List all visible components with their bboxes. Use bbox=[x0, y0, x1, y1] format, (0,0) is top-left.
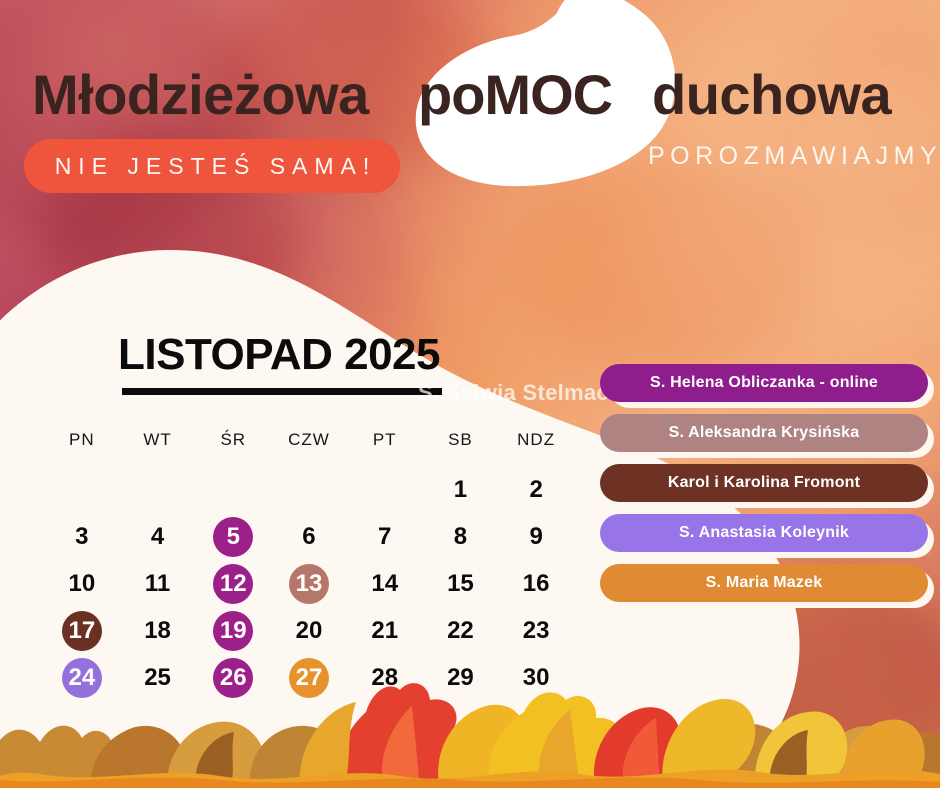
calendar-empty-cell bbox=[120, 466, 196, 513]
ghost-watermark-name: S. Sylwia Stelmach bbox=[418, 380, 623, 406]
calendar-day-2[interactable]: 2 bbox=[516, 470, 556, 510]
calendar-day-23[interactable]: 23 bbox=[516, 611, 556, 651]
calendar-day-cell[interactable]: 12 bbox=[195, 560, 271, 607]
calendar-empty-cell bbox=[44, 466, 120, 513]
legend-item[interactable]: S. Aleksandra Krysińska bbox=[600, 414, 928, 452]
calendar-weekday-pn: PN bbox=[44, 430, 120, 466]
calendar-day-cell[interactable]: 11 bbox=[120, 560, 196, 607]
calendar-weekday-pt: PT bbox=[347, 430, 423, 466]
calendar-day-12[interactable]: 12 bbox=[213, 564, 253, 604]
tagline-pill: NIE JESTEŚ SAMA! bbox=[24, 139, 400, 193]
calendar-day-9[interactable]: 9 bbox=[516, 517, 556, 557]
calendar-day-cell[interactable]: 15 bbox=[423, 560, 499, 607]
calendar-day-cell[interactable]: 5 bbox=[195, 513, 271, 560]
legend-item[interactable]: S. Helena Obliczanka - online bbox=[600, 364, 928, 402]
calendar-day-22[interactable]: 22 bbox=[440, 611, 480, 651]
calendar-day-cell[interactable]: 23 bbox=[498, 607, 574, 654]
legend-item[interactable]: Karol i Karolina Fromont bbox=[600, 464, 928, 502]
calendar-day-5[interactable]: 5 bbox=[213, 517, 253, 557]
calendar-grid: PNWTŚRCZWPTSBNDZ 12345678910111213141516… bbox=[44, 430, 574, 701]
calendar-empty-cell bbox=[195, 466, 271, 513]
calendar-weekday-wt: WT bbox=[120, 430, 196, 466]
legend-list: S. Helena Obliczanka - onlineS. Aleksand… bbox=[600, 364, 928, 614]
legend-badge[interactable]: S. Helena Obliczanka - online bbox=[600, 364, 928, 402]
calendar-day-cell[interactable]: 20 bbox=[271, 607, 347, 654]
legend-item[interactable]: S. Maria Mazek bbox=[600, 564, 928, 602]
calendar-day-1[interactable]: 1 bbox=[440, 470, 480, 510]
calendar-empty-cell bbox=[271, 466, 347, 513]
calendar-day-15[interactable]: 15 bbox=[440, 564, 480, 604]
calendar-day-7[interactable]: 7 bbox=[365, 517, 405, 557]
calendar-day-10[interactable]: 10 bbox=[62, 564, 102, 604]
calendar-week-row: 10111213141516 bbox=[44, 560, 574, 607]
calendar-day-cell[interactable]: 6 bbox=[271, 513, 347, 560]
calendar-day-cell[interactable]: 16 bbox=[498, 560, 574, 607]
calendar-day-16[interactable]: 16 bbox=[516, 564, 556, 604]
calendar-day-cell[interactable]: 17 bbox=[44, 607, 120, 654]
calendar-week-row: 17181920212223 bbox=[44, 607, 574, 654]
headline-part3: duchowa bbox=[652, 62, 891, 127]
calendar-day-14[interactable]: 14 bbox=[365, 564, 405, 604]
calendar-day-cell[interactable]: 19 bbox=[195, 607, 271, 654]
autumn-leaves-border bbox=[0, 666, 940, 788]
calendar-day-cell[interactable]: 1 bbox=[423, 466, 499, 513]
legend-item[interactable]: S. Anastasia Koleynik bbox=[600, 514, 928, 552]
calendar-day-19[interactable]: 19 bbox=[213, 611, 253, 651]
calendar-empty-cell bbox=[347, 466, 423, 513]
calendar-day-cell[interactable]: 18 bbox=[120, 607, 196, 654]
calendar-week-row: 3456789 bbox=[44, 513, 574, 560]
calendar-day-13[interactable]: 13 bbox=[289, 564, 329, 604]
legend-badge[interactable]: S. Maria Mazek bbox=[600, 564, 928, 602]
calendar-day-21[interactable]: 21 bbox=[365, 611, 405, 651]
calendar-day-20[interactable]: 20 bbox=[289, 611, 329, 651]
calendar-day-17[interactable]: 17 bbox=[62, 611, 102, 651]
legend-badge[interactable]: Karol i Karolina Fromont bbox=[600, 464, 928, 502]
calendar-day-18[interactable]: 18 bbox=[138, 611, 178, 651]
calendar-day-cell[interactable]: 21 bbox=[347, 607, 423, 654]
calendar-day-cell[interactable]: 9 bbox=[498, 513, 574, 560]
headline-part2-pomoc: poMOC bbox=[418, 62, 612, 127]
calendar-day-cell[interactable]: 3 bbox=[44, 513, 120, 560]
calendar-weekday-ndz: NDZ bbox=[498, 430, 574, 466]
calendar-day-cell[interactable]: 7 bbox=[347, 513, 423, 560]
calendar-day-cell[interactable]: 14 bbox=[347, 560, 423, 607]
calendar-day-6[interactable]: 6 bbox=[289, 517, 329, 557]
subtitle-porozmawiajmy: POROZMAWIAJMY bbox=[648, 142, 920, 171]
calendar-day-11[interactable]: 11 bbox=[138, 564, 178, 604]
calendar-weekday-sb: SB bbox=[423, 430, 499, 466]
calendar-day-cell[interactable]: 4 bbox=[120, 513, 196, 560]
calendar-day-4[interactable]: 4 bbox=[138, 517, 178, 557]
calendar-day-cell[interactable]: 13 bbox=[271, 560, 347, 607]
calendar-day-8[interactable]: 8 bbox=[440, 517, 480, 557]
calendar-day-3[interactable]: 3 bbox=[62, 517, 102, 557]
calendar-title-underline bbox=[122, 388, 442, 395]
legend-badge[interactable]: S. Aleksandra Krysińska bbox=[600, 414, 928, 452]
calendar-title: LISTOPAD 2025 bbox=[118, 330, 440, 380]
poster-root: Młodzieżowa poMOC duchowa NIE JESTEŚ SAM… bbox=[0, 0, 940, 788]
calendar-day-cell[interactable]: 8 bbox=[423, 513, 499, 560]
calendar-week-row: 12 bbox=[44, 466, 574, 513]
tagline-text: NIE JESTEŚ SAMA! bbox=[48, 153, 377, 180]
calendar-weekday-header-row: PNWTŚRCZWPTSBNDZ bbox=[44, 430, 574, 466]
calendar-weekday-czw: CZW bbox=[271, 430, 347, 466]
headline-part1: Młodzieżowa bbox=[32, 62, 369, 127]
calendar-weekday-śr: ŚR bbox=[195, 430, 271, 466]
calendar-day-cell[interactable]: 22 bbox=[423, 607, 499, 654]
calendar-day-cell[interactable]: 2 bbox=[498, 466, 574, 513]
calendar-day-cell[interactable]: 10 bbox=[44, 560, 120, 607]
legend-badge[interactable]: S. Anastasia Koleynik bbox=[600, 514, 928, 552]
